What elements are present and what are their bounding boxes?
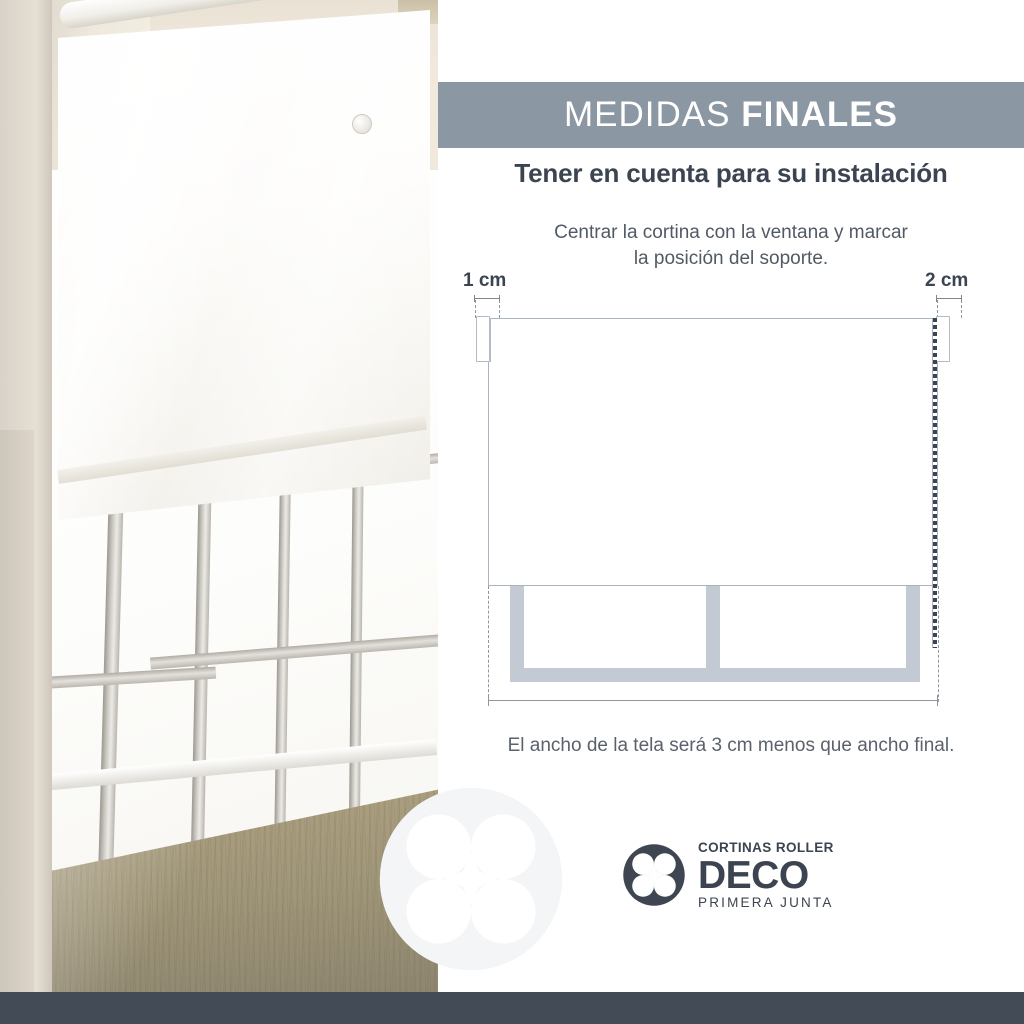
- instruction-text: Centrar la cortina con la ventana y marc…: [438, 220, 1024, 272]
- page-subtitle: Tener en cuenta para su instalación: [438, 158, 1024, 189]
- logo-tagline-bottom: PRIMERA JUNTA: [698, 896, 834, 910]
- bracket-left: [476, 316, 490, 362]
- logo-tagline-top: CORTINAS ROLLER: [698, 841, 834, 855]
- dimension-label-left: 1 cm: [463, 270, 506, 292]
- extension-line-left: [488, 586, 489, 702]
- page-title: MEDIDAS FINALES: [564, 95, 898, 135]
- footer-bar: [0, 992, 1024, 1024]
- fabric-width-note: El ancho de la tela será 3 cm menos que …: [438, 735, 1024, 757]
- logo-wordmark: CORTINAS ROLLER DECO PRIMERA JUNTA: [698, 841, 834, 909]
- poster-canvas: MEDIDAS FINALES Tener en cuenta para su …: [0, 0, 1024, 1024]
- total-width-dimension-line: [488, 700, 938, 701]
- photo-left-wall-lower: [0, 430, 34, 992]
- brand-logo: CORTINAS ROLLER DECO PRIMERA JUNTA: [622, 838, 842, 912]
- callout-bar-right: [936, 298, 962, 299]
- callout-bar-left: [474, 298, 500, 299]
- product-photo: [0, 0, 438, 992]
- bracket-right: [936, 316, 950, 362]
- photo-roller-end-cap: [352, 114, 372, 134]
- dash-right-b: [961, 300, 962, 318]
- instruction-line-1: Centrar la cortina con la ventana y marc…: [438, 220, 1024, 246]
- title-bold: FINALES: [741, 95, 898, 134]
- extension-line-right: [938, 586, 939, 702]
- bracket-left-hook: [490, 318, 491, 362]
- info-panel: MEDIDAS FINALES Tener en cuenta para su …: [438, 0, 1024, 992]
- logo-mark-icon: [622, 843, 686, 907]
- title-light: MEDIDAS: [564, 95, 730, 134]
- window-mullion: [706, 586, 720, 674]
- installation-diagram: 1 cm 2 cm: [438, 268, 1024, 728]
- logo-name: DECO: [698, 856, 834, 895]
- blind-fabric-panel: [488, 318, 938, 586]
- header-ribbon: MEDIDAS FINALES: [438, 82, 1024, 148]
- dash-left-b: [499, 300, 500, 318]
- dimension-label-right: 2 cm: [925, 270, 968, 292]
- bead-chain-line: [932, 318, 937, 648]
